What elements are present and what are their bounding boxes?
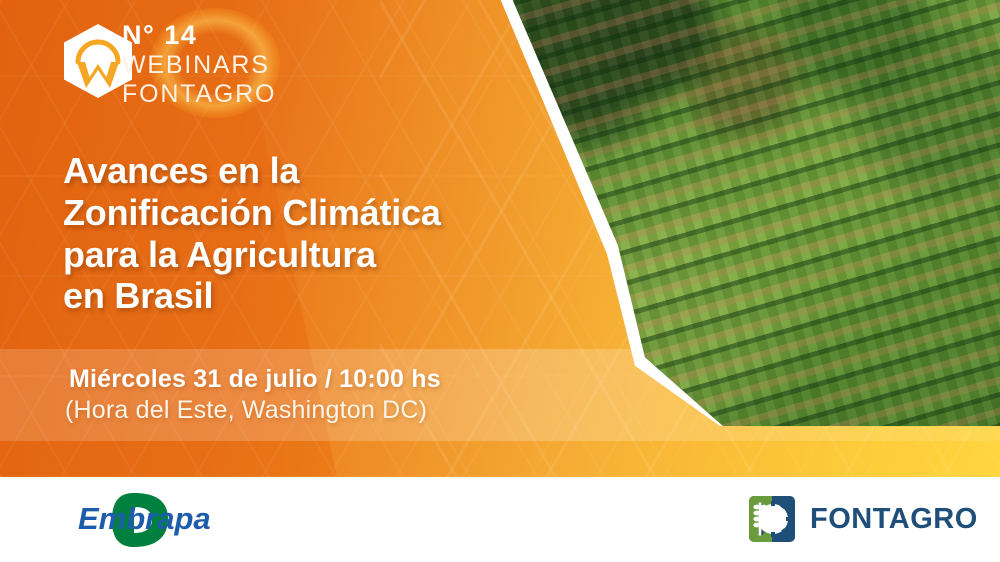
wheat-gear-icon: [748, 495, 796, 543]
webinar-banner: N° 14 WEBINARS FONTAGRO Avances en la Zo…: [0, 0, 1000, 562]
webinar-number: N° 14: [122, 22, 276, 49]
title-line-4: en Brasil: [63, 275, 533, 317]
header-title-block: N° 14 WEBINARS FONTAGRO: [122, 22, 276, 107]
event-datetime: Miércoles 31 de julio / 10:00 hs: [69, 365, 441, 394]
embrapa-logo: Embrapa: [72, 489, 232, 551]
title-line-3: para la Agricultura: [63, 234, 533, 276]
header-line-fontagro: FONTAGRO: [122, 82, 276, 107]
fontagro-wordmark: FONTAGRO: [810, 503, 978, 536]
title-line-1: Avances en la: [63, 150, 533, 192]
embrapa-logo-icon: Embrapa: [72, 489, 232, 551]
orange-background: N° 14 WEBINARS FONTAGRO Avances en la Zo…: [0, 0, 1000, 477]
event-timezone: (Hora del Este, Washington DC): [65, 396, 427, 425]
title-line-2: Zonificación Climática: [63, 192, 533, 234]
embrapa-wordmark: Embrapa: [78, 501, 211, 536]
footer-logos-bar: Embrapa: [0, 477, 1000, 562]
fontagro-logo: FONTAGRO: [748, 493, 978, 545]
header-line-webinars: WEBINARS: [122, 53, 276, 78]
page-title: Avances en la Zonificación Climática par…: [63, 150, 533, 317]
